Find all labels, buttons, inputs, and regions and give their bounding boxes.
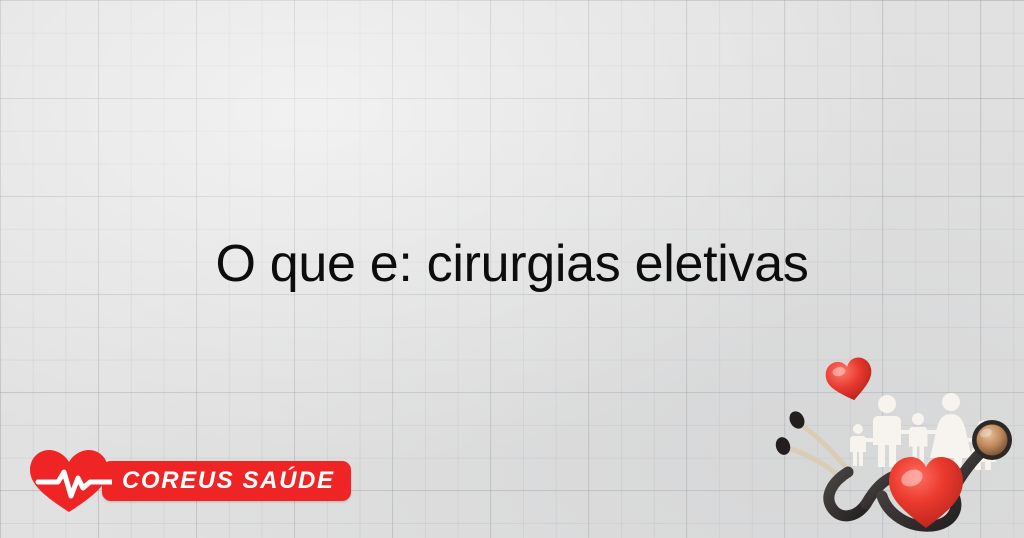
chestpiece-icon [972,420,1012,460]
slide-canvas: O que e: cirurgias eletivas COREUS SAÚDE [0,0,1024,538]
hero-illustration [770,346,1024,538]
small-heart-icon [823,355,877,405]
brand-logo: COREUS SAÚDE [28,447,351,515]
page-title: O que e: cirurgias eletivas [0,237,1024,292]
brand-badge: COREUS SAÚDE [102,461,351,501]
heart-pulse-icon [28,448,112,514]
brand-name: COREUS SAÚDE [122,469,335,493]
